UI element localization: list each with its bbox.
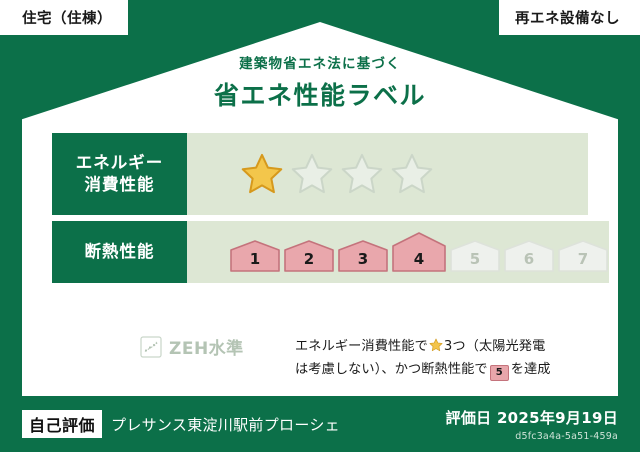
energy-performance-value-cell bbox=[187, 133, 588, 215]
evaluation-date: 評価日 2025年9月19日 bbox=[446, 407, 618, 428]
insulation-performance-label-cell: 断熱性能 bbox=[52, 221, 187, 283]
zeh-description: エネルギー消費性能で3つ（太陽光発電は考慮しない）、かつ断熱性能で5を達成 bbox=[295, 312, 551, 381]
star-icon-empty bbox=[339, 152, 385, 196]
label-footer: 自己評価 プレサンス東淀川駅前プローシェ 評価日 2025年9月19日 d5fc… bbox=[0, 396, 640, 452]
insulation-level-badge: 6 bbox=[503, 239, 555, 273]
zeh-mark: ZEH水準 bbox=[52, 334, 295, 359]
performance-rows: エネルギー 消費性能 断熱性能 1234567 bbox=[52, 133, 588, 289]
insulation-level-value: 7 bbox=[557, 250, 609, 268]
building-name: プレサンス東淀川駅前プローシェ bbox=[111, 414, 340, 435]
self-evaluation-badge: 自己評価 bbox=[22, 410, 102, 438]
zeh-label: ZEH水準 bbox=[169, 334, 244, 359]
insulation-performance-row: 断熱性能 1234567 bbox=[52, 221, 588, 283]
desc-part1: エネルギー消費性能で bbox=[295, 339, 428, 354]
title-main: 省エネ性能ラベル bbox=[0, 76, 640, 112]
star-rating bbox=[187, 152, 435, 196]
insulation-level-scale: 1234567 bbox=[187, 231, 609, 273]
title-subtitle: 建築物省エネ法に基づく bbox=[0, 52, 640, 72]
label-title: 建築物省エネ法に基づく 省エネ性能ラベル bbox=[0, 52, 640, 112]
insulation-level-value: 3 bbox=[337, 250, 389, 268]
insulation-level-badge: 7 bbox=[557, 239, 609, 273]
insulation-level-value: 1 bbox=[229, 250, 281, 268]
energy-performance-row: エネルギー 消費性能 bbox=[52, 133, 588, 215]
insulation-label: 断熱性能 bbox=[85, 241, 155, 263]
insulation-performance-value-cell: 1234567 bbox=[187, 221, 609, 283]
insulation-level-badge: 5 bbox=[449, 239, 501, 273]
insulation-level-badge: 4 bbox=[391, 231, 447, 273]
desc-part2: は考慮しない）、かつ断熱性能で bbox=[295, 362, 488, 377]
evaluation-id: d5fc3a4a-5a51-459a bbox=[446, 431, 618, 442]
footer-left-group: 自己評価 プレサンス東淀川駅前プローシェ bbox=[22, 410, 340, 438]
energy-label-line1: エネルギー bbox=[76, 152, 164, 174]
energy-performance-label: 住宅（住棟） 再エネ設備なし 建築物省エネ法に基づく 省エネ性能ラベル エネルギ… bbox=[0, 0, 640, 452]
desc-part3: を達成 bbox=[511, 362, 551, 377]
insulation-level-value: 6 bbox=[503, 250, 555, 268]
zeh-standard-block: ZEH水準 エネルギー消費性能で3つ（太陽光発電は考慮しない）、かつ断熱性能で5… bbox=[52, 312, 588, 381]
insulation-level-value: 4 bbox=[391, 250, 447, 268]
building-type-tab: 住宅（住棟） bbox=[0, 0, 128, 35]
star-icon-empty bbox=[389, 152, 435, 196]
insulation-level-value: 5 bbox=[449, 250, 501, 268]
insulation-level-value: 2 bbox=[283, 250, 335, 268]
insulation-level-badge: 1 bbox=[229, 239, 281, 273]
renewable-energy-tab: 再エネ設備なし bbox=[499, 0, 640, 35]
desc-star-count: 3つ（太陽光発電 bbox=[444, 339, 546, 354]
energy-performance-label-cell: エネルギー 消費性能 bbox=[52, 133, 187, 215]
inline-star-icon bbox=[429, 338, 443, 352]
energy-label-line2: 消費性能 bbox=[85, 174, 155, 196]
star-icon-filled bbox=[239, 152, 285, 196]
inline-level-badge: 5 bbox=[490, 365, 509, 381]
insulation-level-badge: 3 bbox=[337, 239, 389, 273]
insulation-level-badge: 2 bbox=[283, 239, 335, 273]
footer-right-group: 評価日 2025年9月19日 d5fc3a4a-5a51-459a bbox=[446, 407, 618, 442]
star-icon-empty bbox=[289, 152, 335, 196]
zeh-chart-icon bbox=[140, 336, 162, 358]
